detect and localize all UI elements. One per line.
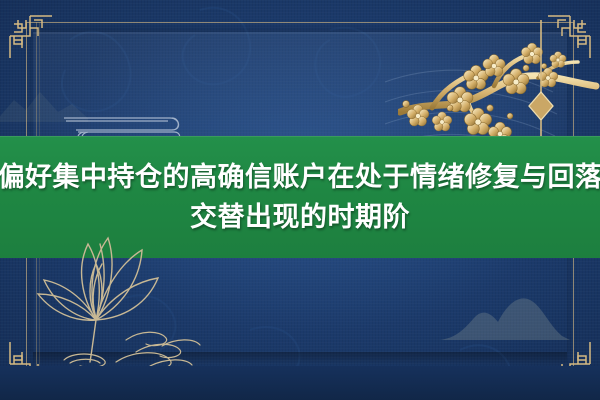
headline-line-2: 交替出现的时期阶 bbox=[190, 198, 410, 236]
poster-canvas: 偏好集中持仓的高确信账户在处于情绪修复与回落 交替出现的时期阶 bbox=[0, 0, 600, 400]
plum-blossom-branch-icon bbox=[398, 16, 600, 156]
fret-corner-bottom-left-icon bbox=[8, 340, 54, 386]
fret-corner-bottom-right-icon bbox=[546, 340, 592, 386]
headline-block: 偏好集中持仓的高确信账户在处于情绪修复与回落 交替出现的时期阶 bbox=[0, 136, 600, 258]
headline-line-1: 偏好集中持仓的高确信账户在处于情绪修复与回落 bbox=[0, 158, 600, 196]
mountain-silhouette-right-icon bbox=[440, 288, 570, 340]
base-strip bbox=[0, 366, 600, 400]
panel-shadow bbox=[33, 352, 567, 366]
fret-corner-top-right-icon bbox=[546, 14, 592, 60]
mountain-silhouette-left-icon bbox=[0, 86, 88, 122]
fret-corner-top-left-icon bbox=[8, 14, 54, 60]
